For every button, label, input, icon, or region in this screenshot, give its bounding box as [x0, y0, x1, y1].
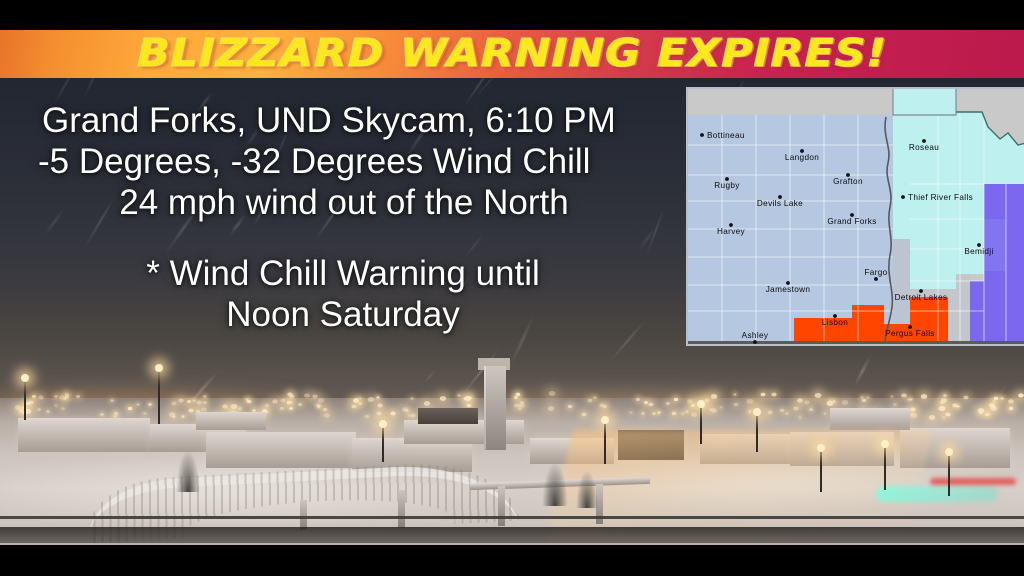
map-city-dot	[874, 277, 878, 281]
map-city-dot	[753, 340, 757, 344]
overlay-line-temperature: -5 Degrees, -32 Degrees Wind Chill	[28, 141, 658, 182]
overlay-line-location-time: Grand Forks, UND Skycam, 6:10 PM	[28, 100, 658, 141]
map-city-label: Devils Lake	[757, 199, 803, 208]
map-city-label: Bottineau	[707, 131, 745, 140]
illuminated-sign-red	[930, 478, 1016, 485]
building	[18, 418, 150, 452]
map-city-label: Thief River Falls	[908, 193, 973, 202]
building	[206, 432, 356, 468]
railing	[0, 516, 1024, 519]
map-city-label: Roseau	[909, 143, 939, 152]
foreground-rooftop	[0, 527, 1024, 543]
map-city-label: Fargo	[864, 268, 887, 277]
map-city-label: Grand Forks	[827, 217, 876, 226]
evergreen-tree	[542, 462, 568, 506]
map-city-layer: BottineauLangdonRugbyGraftonRoseauDevils…	[688, 89, 1024, 346]
map-city-label: Lisbon	[822, 318, 848, 327]
street-lamp	[700, 404, 702, 444]
overlay-line-advisory-2: Noon Saturday	[28, 294, 658, 335]
bridge-pier	[398, 490, 405, 528]
illuminated-sign-teal	[876, 486, 998, 502]
bridge-pier	[300, 500, 307, 530]
street-lamp	[884, 444, 886, 490]
map-city-label: Ashley	[742, 331, 769, 340]
weather-alert-map[interactable]: BottineauLangdonRugbyGraftonRoseauDevils…	[686, 87, 1024, 346]
overlay-line-advisory-1: * Wind Chill Warning until	[28, 253, 658, 294]
evergreen-tree	[176, 450, 200, 492]
street-lamp	[756, 412, 758, 452]
map-city-label: Rugby	[714, 181, 740, 190]
map-city-label: Grafton	[833, 177, 863, 186]
overlay-line-wind: 24 mph wind out of the North	[28, 182, 658, 223]
letterbox-top	[0, 0, 1024, 30]
overlay-spacer	[28, 223, 658, 253]
bridge-pier	[498, 486, 505, 526]
alert-banner-headline: BLIZZARD WARNING EXPIRES!	[0, 31, 1024, 75]
street-lamp	[24, 378, 26, 420]
alert-banner: BLIZZARD WARNING EXPIRES!	[0, 30, 1024, 78]
broadcast-screen: BottineauLangdonRugbyGraftonRoseauDevils…	[0, 0, 1024, 576]
street-lamp	[382, 424, 384, 462]
map-city-label: Bemidji	[964, 247, 993, 256]
street-lamp	[820, 448, 822, 492]
street-lamp	[158, 368, 160, 424]
map-city-label: Detroit Lakes	[895, 293, 948, 302]
weather-text-overlay: Grand Forks, UND Skycam, 6:10 PM -5 Degr…	[28, 100, 658, 335]
map-city-label: Langdon	[785, 153, 819, 162]
street-lamp	[604, 420, 606, 464]
street-lamp	[948, 452, 950, 496]
communications-tower	[484, 366, 506, 450]
map-city-dot	[700, 133, 704, 137]
map-city-label: Jamestown	[766, 285, 811, 294]
building	[196, 412, 266, 430]
map-city-label: Pergus Falls	[885, 329, 935, 338]
evergreen-tree	[576, 470, 598, 508]
map-city-label: Harvey	[717, 227, 746, 236]
map-city-dot	[901, 195, 905, 199]
letterbox-bottom	[0, 545, 1024, 576]
building	[418, 408, 478, 424]
building	[830, 408, 910, 430]
